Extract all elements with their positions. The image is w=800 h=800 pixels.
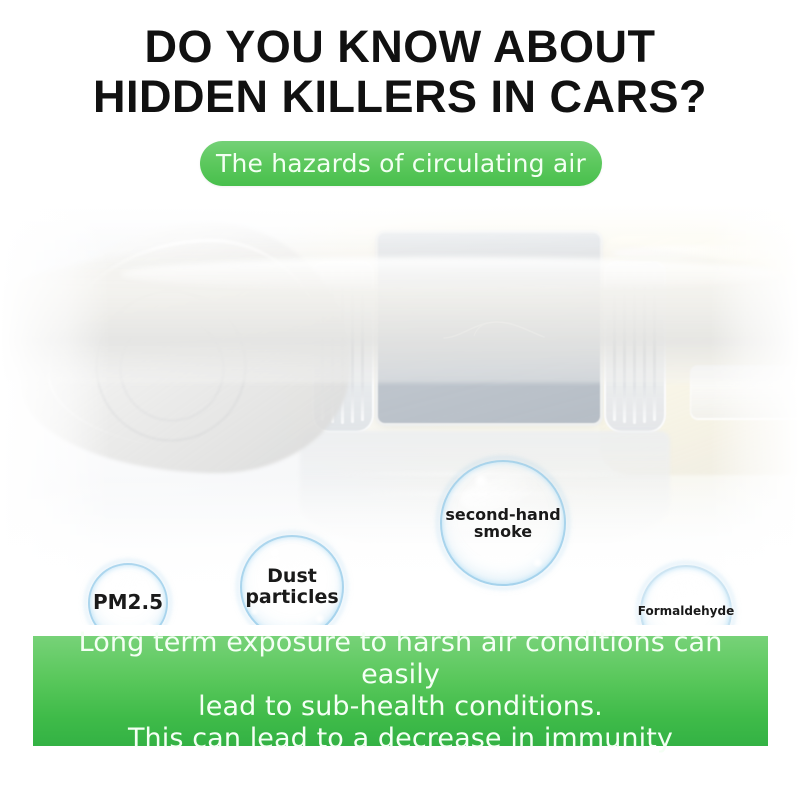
bubble-label-pm25: PM2.5 [93,592,163,614]
bubble-label-dust-particles: Dust particles [245,566,338,607]
bubble-sparkle-icon [143,621,154,625]
bubble-dust-particles[interactable]: Dust particles [240,535,344,625]
bubble-label-formaldehyde: Formaldehyde [638,605,734,618]
bubble-pm25[interactable]: PM2.5 [88,563,168,625]
bubble-label-second-hand-smoke: second-hand smoke [445,506,560,541]
car-dashboard-photo: PM2.5 Dust particles second-hand smoke F… [0,205,800,625]
poster-canvas: DO YOU KNOW ABOUT HIDDEN KILLERS IN CARS… [0,0,800,800]
bubble-sparkle-icon [109,571,125,587]
bubble-sparkle-icon [473,473,489,489]
bottom-message-text: Long term exposure to harsh air conditio… [33,627,768,755]
bottom-message-banner: Long term exposure to harsh air conditio… [33,636,768,746]
bubble-second-hand-smoke[interactable]: second-hand smoke [440,460,566,586]
photo-top-fade [0,205,800,265]
page-title: DO YOU KNOW ABOUT HIDDEN KILLERS IN CARS… [0,22,800,122]
bubble-formaldehyde[interactable]: Formaldehyde [640,565,732,625]
subtitle-text: The hazards of circulating air [216,149,586,178]
subtitle-banner: The hazards of circulating air [200,141,602,186]
